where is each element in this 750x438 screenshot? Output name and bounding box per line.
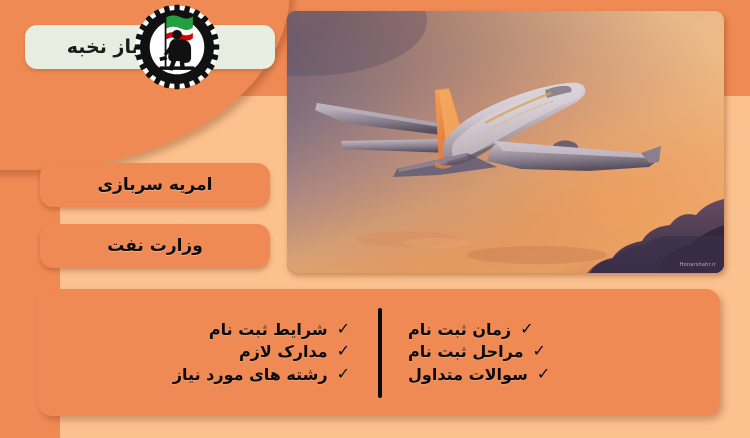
photo-credit: Honarshahr.ir xyxy=(680,262,716,268)
column-divider xyxy=(378,308,382,398)
list-item-label: مراحل ثبت نام xyxy=(408,342,524,362)
list-item-label: سوالات متداول xyxy=(408,365,528,385)
check-icon: ✓ xyxy=(537,364,550,384)
poster-canvas: سرباز نخبه xyxy=(0,0,750,438)
list-item-label: رشته های مورد نیاز xyxy=(173,365,328,385)
check-icon: ✓ xyxy=(337,364,350,384)
check-icon: ✓ xyxy=(337,341,350,361)
airplane-sunset-photo: Honarshahr.ir xyxy=(287,11,724,273)
vezarat-naft-button[interactable]: وزارت نفت xyxy=(40,224,270,268)
list-item-label: شرایط ثبت نام xyxy=(209,320,328,340)
check-icon: ✓ xyxy=(533,341,546,361)
check-icon: ✓ xyxy=(337,319,350,339)
list-item[interactable]: ✓ زمان ثبت نام xyxy=(408,320,534,340)
vezarat-naft-button-label: وزارت نفت xyxy=(107,236,203,256)
list-item[interactable]: ✓ رشته های مورد نیاز xyxy=(173,365,350,385)
topics-panel: ✓ شرایط ثبت نام ✓ مدارک لازم ✓ رشته های … xyxy=(38,289,720,416)
amriyeh-sarbazi-button-label: امریه سربازی xyxy=(98,175,213,195)
topics-left-column: ✓ زمان ثبت نام ✓ مراحل ثبت نام ✓ سوالات … xyxy=(382,289,720,416)
list-item[interactable]: ✓ سوالات متداول xyxy=(408,365,550,385)
list-item-label: مدارک لازم xyxy=(239,342,328,362)
amriyeh-sarbazi-button[interactable]: امریه سربازی xyxy=(40,163,270,207)
check-icon: ✓ xyxy=(520,319,533,339)
list-item-label: زمان ثبت نام xyxy=(408,320,511,340)
list-item[interactable]: ✓ شرایط ثبت نام xyxy=(209,320,350,340)
gear-soldier-flag-logo-icon xyxy=(133,3,221,91)
topics-right-column: ✓ شرایط ثبت نام ✓ مدارک لازم ✓ رشته های … xyxy=(38,289,378,416)
list-item[interactable]: ✓ مراحل ثبت نام xyxy=(408,342,546,362)
list-item[interactable]: ✓ مدارک لازم xyxy=(239,342,350,362)
